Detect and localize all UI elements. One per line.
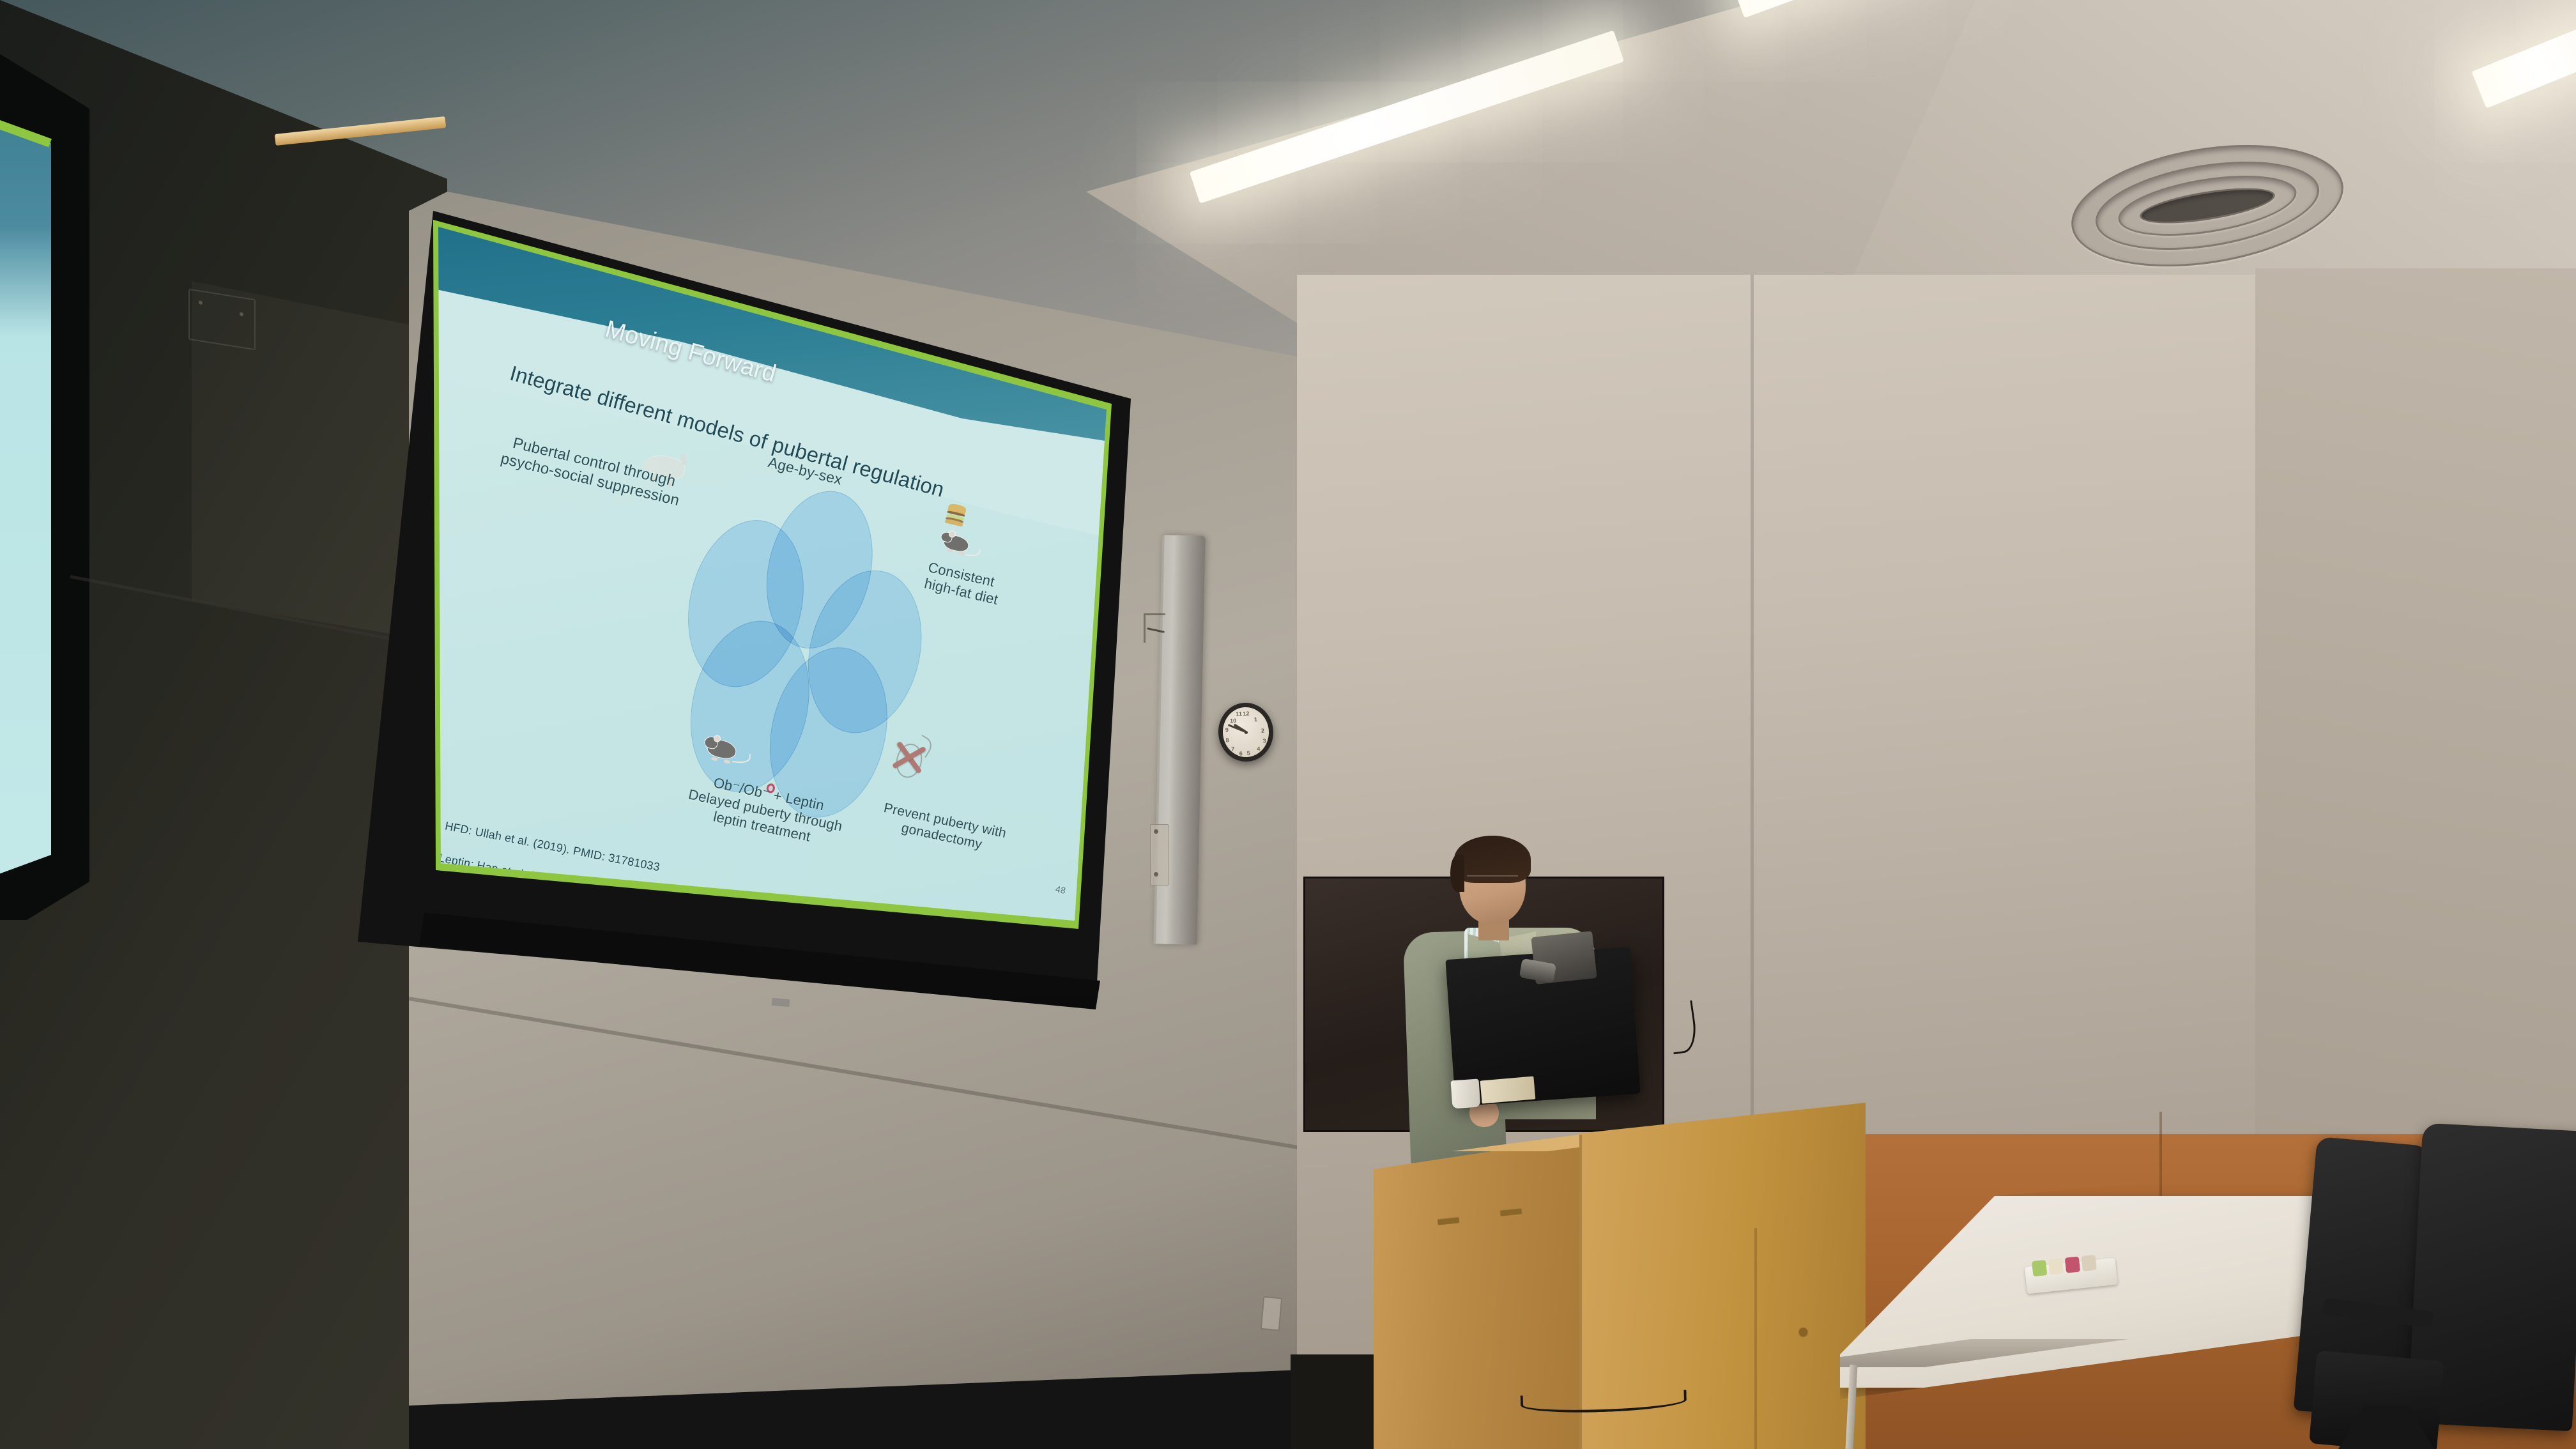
wall-far-right bbox=[2255, 268, 2576, 1137]
secondary-display bbox=[0, 38, 89, 920]
podium-top bbox=[1374, 1133, 1588, 1151]
podium-door-seam bbox=[1754, 1228, 1757, 1449]
wall-seam bbox=[1751, 275, 1754, 1118]
podium-side-panel bbox=[1579, 1054, 1866, 1449]
slide-number: 48 bbox=[1055, 884, 1067, 896]
screen-brand-label bbox=[772, 998, 790, 1007]
secondary-display-surface bbox=[0, 101, 51, 887]
clock-face: 12 1 2 3 4 5 6 7 8 9 10 11 bbox=[1222, 706, 1270, 758]
wooden-podium bbox=[1374, 1054, 1866, 1449]
lecture-hall-scene: 12 1 2 3 4 5 6 7 8 9 10 11 bbox=[0, 0, 2576, 1449]
presentation-slide: Moving Forward Integrate different model… bbox=[438, 227, 1107, 923]
presenter-glasses bbox=[1467, 875, 1518, 885]
clock-pivot bbox=[1244, 730, 1247, 733]
papers[interactable] bbox=[1480, 1076, 1536, 1103]
podium-door-knob[interactable] bbox=[1799, 1328, 1807, 1336]
monitor-arm[interactable] bbox=[1531, 931, 1597, 985]
wall-plate bbox=[188, 289, 256, 351]
projection-screen: Moving Forward Integrate different model… bbox=[358, 211, 1163, 1016]
power-outlet bbox=[1261, 1296, 1282, 1331]
coffee-cup[interactable] bbox=[1451, 1079, 1481, 1109]
